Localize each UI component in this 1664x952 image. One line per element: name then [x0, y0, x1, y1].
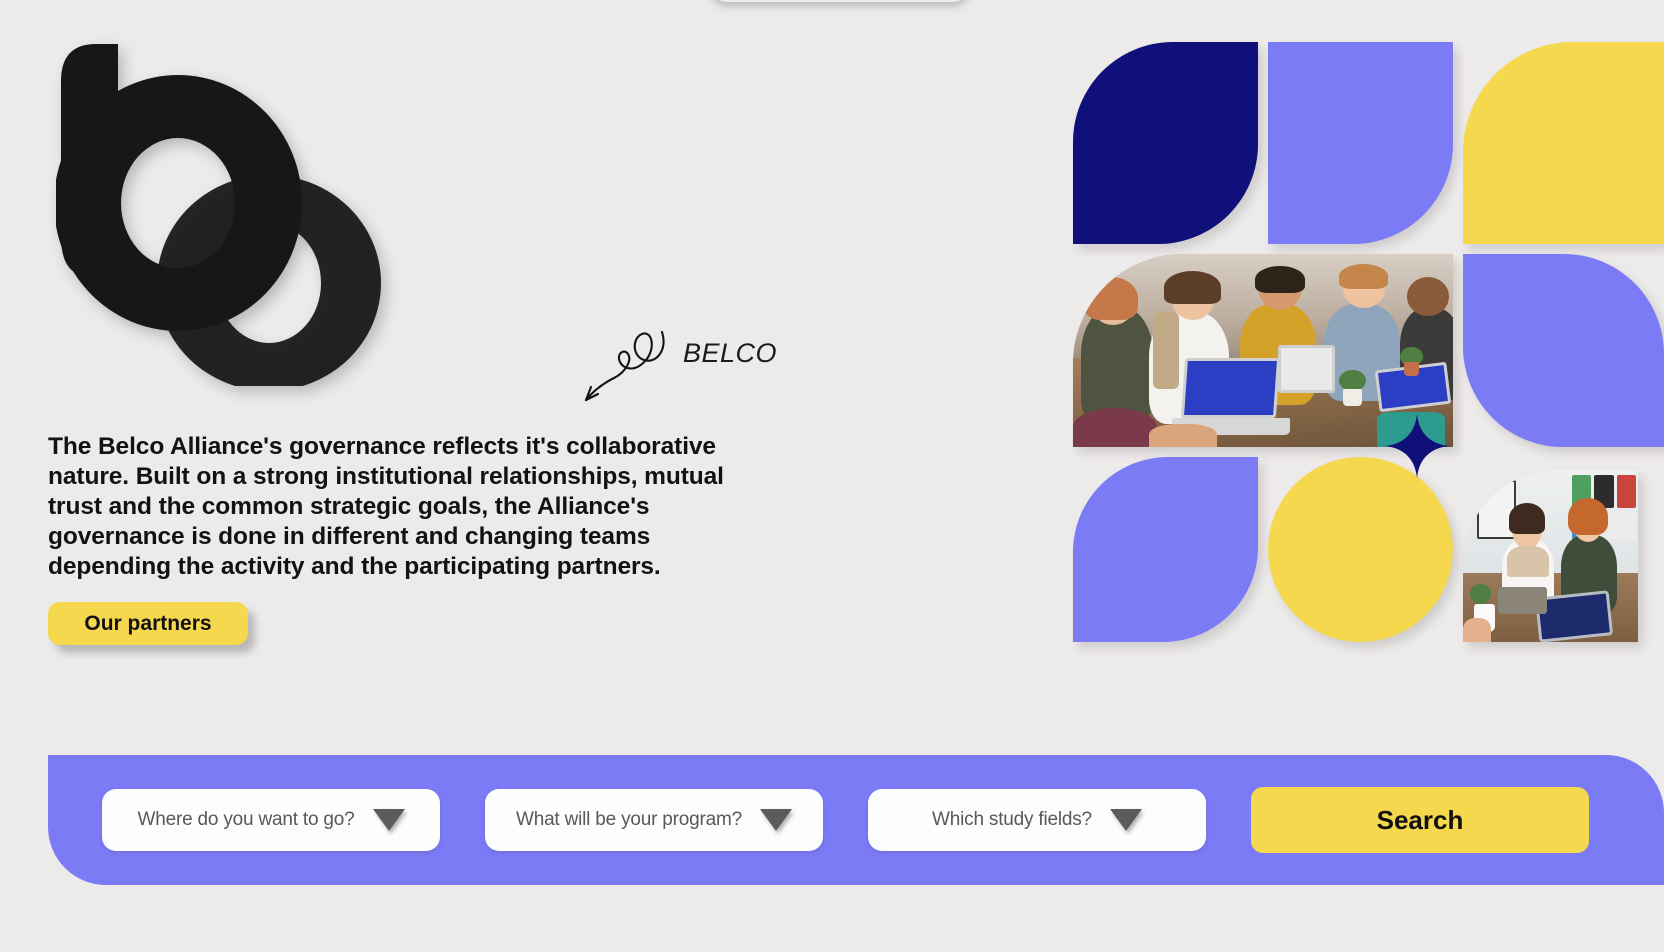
yellow-leaf-shape — [1463, 42, 1664, 244]
hero-paragraph: The Belco Alliance's governance reflects… — [48, 432, 748, 582]
hero-left-column: BELCO The Belco Alliance's governance re… — [0, 0, 840, 720]
chevron-down-icon[interactable] — [760, 809, 792, 831]
belco-logo[interactable] — [56, 36, 406, 386]
yellow-oval-shape — [1268, 457, 1453, 642]
destination-select-label: Where do you want to go? — [137, 809, 354, 831]
program-select[interactable]: What will be your program? — [485, 789, 823, 851]
purple-leaf-shape-3 — [1073, 457, 1258, 642]
our-partners-button[interactable]: Our partners — [48, 602, 248, 645]
navy-star-icon — [1385, 414, 1449, 478]
chevron-down-icon[interactable] — [1110, 809, 1142, 831]
top-notch — [712, 0, 968, 2]
search-button[interactable]: Search — [1251, 787, 1589, 853]
curly-arrow-icon — [570, 320, 680, 410]
study-field-select[interactable]: Which study fields? — [868, 789, 1206, 851]
decorative-collage — [1073, 42, 1664, 642]
navy-leaf-shape — [1073, 42, 1258, 244]
purple-leaf-shape-1 — [1268, 42, 1453, 244]
search-bar: Where do you want to go? What will be yo… — [48, 755, 1664, 885]
purple-leaf-shape-2 — [1463, 254, 1664, 447]
brand-wordmark: BELCO — [683, 338, 777, 369]
two-women-photo — [1463, 470, 1638, 642]
program-select-label: What will be your program? — [516, 809, 742, 831]
chevron-down-icon[interactable] — [373, 809, 405, 831]
destination-select[interactable]: Where do you want to go? — [102, 789, 440, 851]
study-field-select-label: Which study fields? — [932, 809, 1092, 831]
